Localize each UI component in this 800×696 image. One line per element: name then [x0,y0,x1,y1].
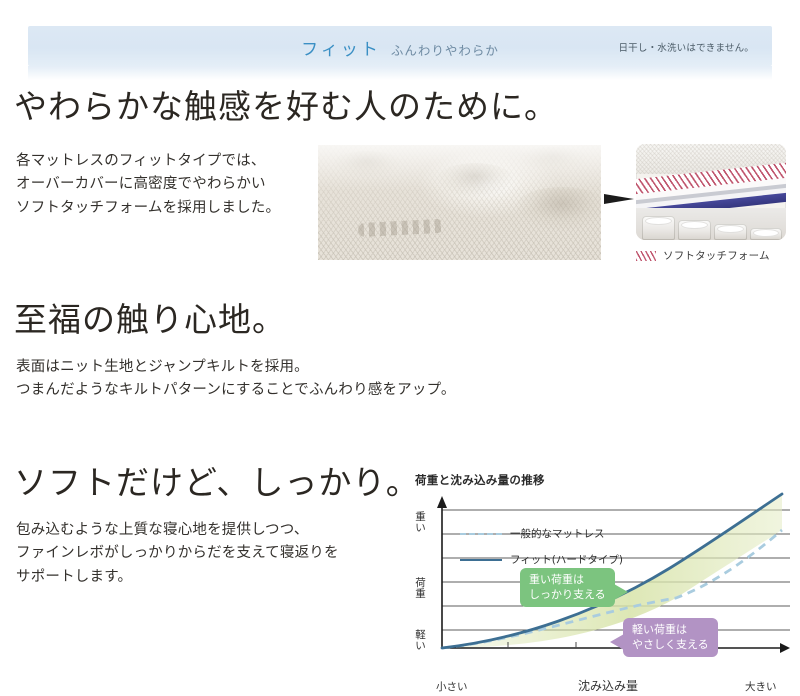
quilt-depth-blur [318,145,601,191]
mattress-quilt-photo [318,145,601,260]
header-band: フィットふんわりやわらか 日干し・水洗いはできません。 [28,26,772,66]
product-page: フィットふんわりやわらか 日干し・水洗いはできません。 やわらかな触感を好む人の… [0,0,800,696]
load-sinkage-chart: 荷重と沈み込み量の推移 [412,472,790,677]
section-heading-3: ソフトだけど、しっかり。 [14,466,420,499]
chart-x-label-small: 小さい [436,679,468,694]
cross-section-coil [714,224,747,240]
chart-y-axis-title: 荷重 [414,578,427,600]
chart-plot-area: 一般的なマットレス フィット(ハードタイプ) 重い荷重は しっかり支える 軽い荷… [412,490,790,655]
legend-label-fit: フィット(ハードタイプ) [510,552,623,567]
cross-section-legend-label: ソフトタッチフォーム [663,248,770,263]
chart-legend-item-fit: フィット(ハードタイプ) [460,552,623,567]
chart-annotation-light-load: 軽い荷重は やさしく支える [623,618,718,657]
legend-solid-line-icon [460,559,502,561]
callout-pointer-icon [604,194,634,204]
section-body-2: 表面はニット生地とジャンプキルトを採用。 つまんだようなキルトパターンにすること… [16,356,456,403]
chart-x-label-large: 大きい [745,679,777,694]
chart-annotation-heavy-load: 重い荷重は しっかり支える [520,568,615,607]
cross-section-legend: ソフトタッチフォーム [636,248,770,263]
section-body-1: 各マットレスのフィットタイプでは、 オーバーカバーに高密度でやわらかい ソフトタ… [16,150,280,220]
cross-section-coil [642,216,675,240]
chart-y-label-heavy: 重い [414,512,427,534]
hatch-swatch-icon [636,251,656,261]
legend-label-general: 一般的なマットレス [510,526,605,541]
care-note: 日干し・水洗いはできません。 [618,40,754,54]
chart-x-axis-title: 沈み込み量 [578,677,638,694]
chart-legend-item-general: 一般的なマットレス [460,526,605,541]
legend-dashed-line-icon [460,533,502,535]
header-title: フィット [301,40,381,60]
section-heading-2: 至福の触り心地。 [14,303,286,336]
cross-section-illustration [636,144,786,240]
chart-y-label-light: 軽い [414,630,427,652]
chart-title: 荷重と沈み込み量の推移 [415,472,545,488]
cross-section-coil [678,220,711,240]
section-body-3: 包み込むような上質な寝心地を提供しつつ、 ファインレボがしっかりからだを支えて寝… [16,519,339,589]
header-subtitle: ふんわりやわらか [391,43,499,58]
cross-section-coil [750,228,782,240]
section-heading-1: やわらかな触感を好む人のために。 [14,90,558,123]
